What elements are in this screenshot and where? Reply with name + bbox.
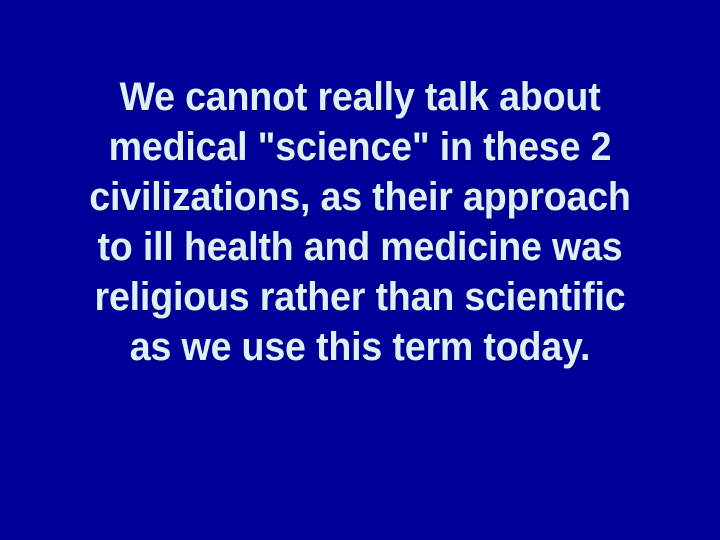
slide-body-text: We cannot really talk about medical "sci…	[0, 72, 720, 372]
slide-text-line-5: religious rather than scientific	[22, 272, 699, 322]
slide-text-line-2: medical "science" in these 2	[22, 122, 699, 172]
slide-text-line-6: as we use this term today.	[22, 322, 699, 372]
slide-text-line-4: to ill health and medicine was	[22, 222, 699, 272]
slide-text-line-3: civilizations, as their approach	[22, 172, 699, 222]
presentation-slide: We cannot really talk about medical "sci…	[0, 0, 720, 540]
slide-text-line-1: We cannot really talk about	[22, 72, 699, 122]
